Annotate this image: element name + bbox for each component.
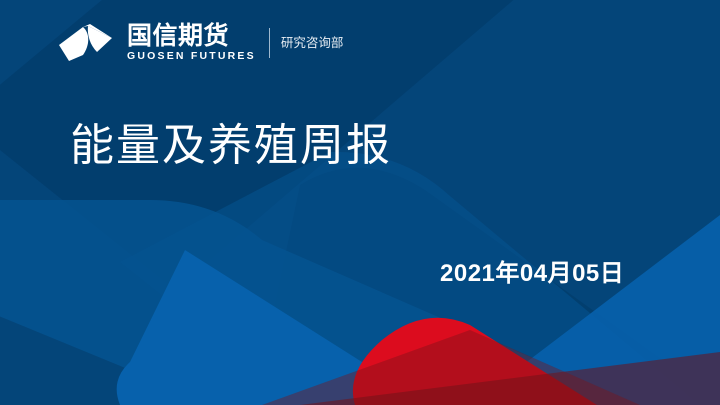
report-date: 2021年04月05日 <box>440 258 624 290</box>
logo-divider <box>269 28 270 58</box>
page-title: 能量及养殖周报 <box>70 118 392 174</box>
brand-name-cn: 国信期货 <box>127 23 256 50</box>
cover-slide: 国信期货 GUOSEN FUTURES 研究咨询部 能量及养殖周报 2021年0… <box>0 0 720 405</box>
brand-wordmark: 国信期货 GUOSEN FUTURES <box>127 20 256 66</box>
brand-name-en: GUOSEN FUTURES <box>127 50 256 63</box>
guosen-wave-mark-icon <box>57 21 119 65</box>
department-label: 研究咨询部 <box>281 35 344 51</box>
brand-logo-lockup: 国信期货 GUOSEN FUTURES 研究咨询部 <box>57 18 343 68</box>
